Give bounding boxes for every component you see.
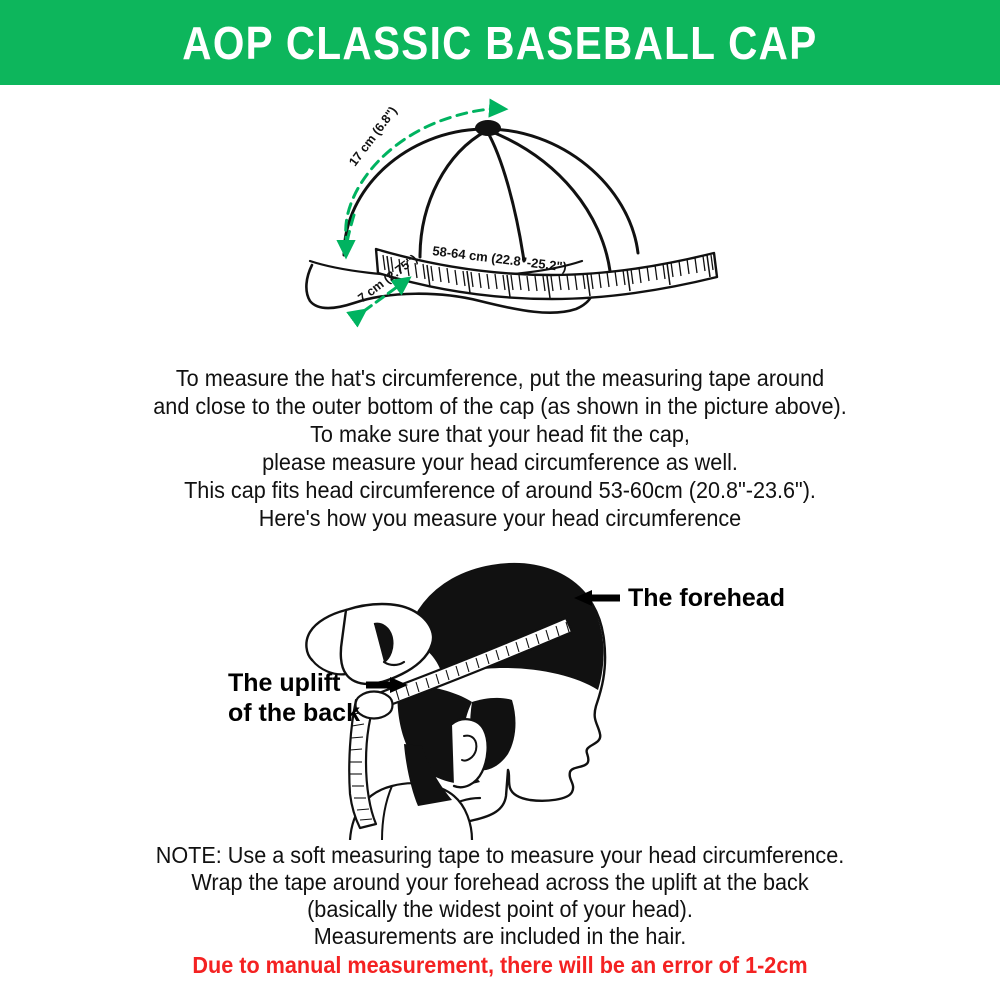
instruction-line: To measure the hat's circumference, put …	[30, 364, 970, 392]
instruction-line: Here's how you measure your head circumf…	[30, 504, 970, 532]
uplift-label-line2: of the back	[228, 698, 360, 728]
note-warning: Due to manual measurement, there will be…	[30, 950, 970, 979]
cap-crown-height-label: 17 cm (6.8")	[346, 104, 400, 169]
page-title: AOP CLASSIC BASEBALL CAP	[182, 20, 817, 66]
note-line: (basically the widest point of your head…	[30, 896, 970, 923]
header-banner: AOP CLASSIC BASEBALL CAP	[0, 0, 1000, 85]
uplift-label-line1: The uplift	[228, 668, 360, 698]
instruction-line: This cap fits head circumference of arou…	[30, 476, 970, 504]
note-line: NOTE: Use a soft measuring tape to measu…	[30, 842, 970, 869]
instruction-line: To make sure that your head fit the cap,	[30, 420, 970, 448]
cap-crown-outline	[344, 120, 638, 271]
instructions-block: To measure the hat's circumference, put …	[0, 364, 1000, 532]
note-line: Wrap the tape around your forehead acros…	[30, 869, 970, 896]
cap-button-icon	[475, 120, 501, 136]
forehead-label: The forehead	[628, 583, 785, 613]
instruction-line: and close to the outer bottom of the cap…	[30, 392, 970, 420]
cap-measurement-figure: 58-64 cm (22.8"-25.2") 17 cm (6.8") 7 cm…	[280, 95, 740, 340]
note-line: Measurements are included in the hair.	[30, 923, 970, 950]
instruction-line: please measure your head circumference a…	[30, 448, 970, 476]
uplift-label: The uplift of the back	[228, 668, 360, 728]
notes-block: NOTE: Use a soft measuring tape to measu…	[0, 842, 1000, 979]
